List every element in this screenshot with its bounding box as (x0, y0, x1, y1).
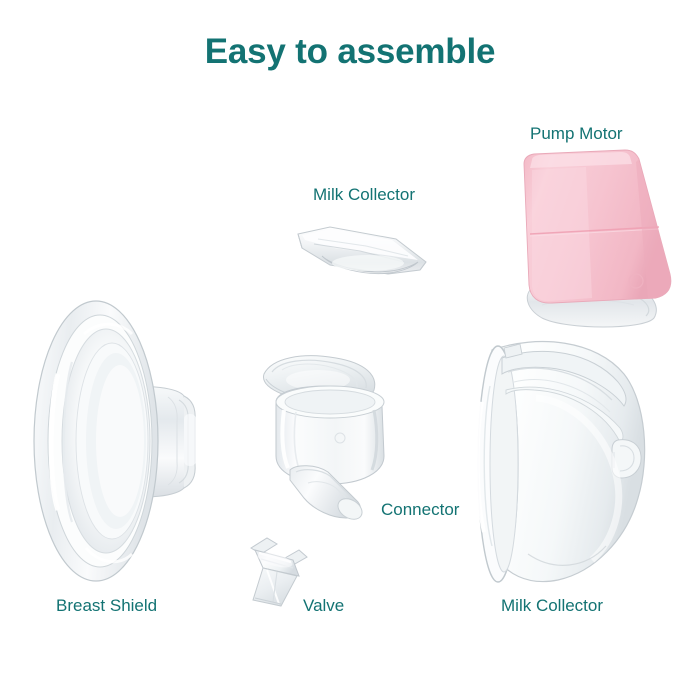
part-breast-shield (28, 296, 224, 586)
page-title: Easy to assemble (0, 32, 700, 72)
part-connector (262, 352, 402, 520)
label-milk-collector-bottom: Milk Collector (501, 596, 603, 616)
part-pump-motor (508, 148, 686, 334)
label-connector: Connector (381, 500, 459, 520)
part-milk-collector-top (292, 218, 432, 280)
label-pump-motor: Pump Motor (530, 124, 623, 144)
label-breast-shield: Breast Shield (56, 596, 157, 616)
pump-motor-body (524, 150, 671, 303)
part-milk-collector-bottom (468, 328, 654, 596)
label-valve: Valve (303, 596, 344, 616)
label-milk-collector-top: Milk Collector (313, 185, 415, 205)
breast-shield-flange (34, 301, 158, 581)
product-diagram-page: Easy to assemble (0, 0, 700, 700)
milk-collector-top-body (298, 227, 426, 274)
